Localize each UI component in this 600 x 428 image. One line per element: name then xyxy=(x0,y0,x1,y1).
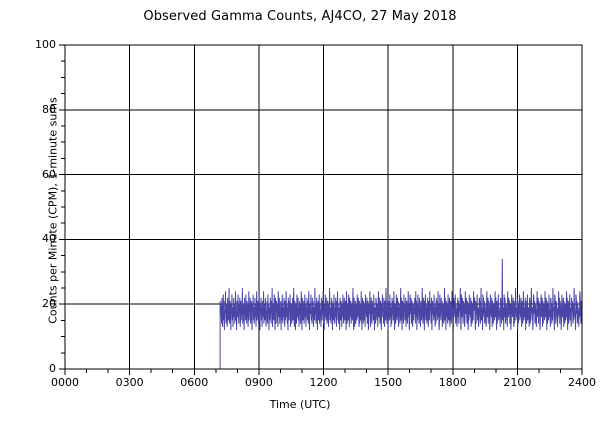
x-axis-title: Time (UTC) xyxy=(0,398,600,411)
y-tick-label: 100 xyxy=(16,38,56,51)
y-tick-label: 0 xyxy=(16,362,56,375)
plot-area xyxy=(0,0,600,428)
x-tick-label: 2400 xyxy=(558,376,600,389)
chart-figure: Observed Gamma Counts, AJ4CO, 27 May 201… xyxy=(0,0,600,428)
x-tick-label: 1200 xyxy=(300,376,348,389)
y-axis-title: Counts per Minute (CPM), 1-minute sums xyxy=(47,61,60,361)
data-series-line xyxy=(220,259,582,369)
x-tick-label: 1500 xyxy=(364,376,412,389)
x-tick-label: 0900 xyxy=(235,376,283,389)
x-tick-label: 1800 xyxy=(429,376,477,389)
x-tick-label: 0000 xyxy=(41,376,89,389)
x-tick-label: 0600 xyxy=(170,376,218,389)
x-tick-label: 2100 xyxy=(493,376,541,389)
x-tick-label: 0300 xyxy=(106,376,154,389)
